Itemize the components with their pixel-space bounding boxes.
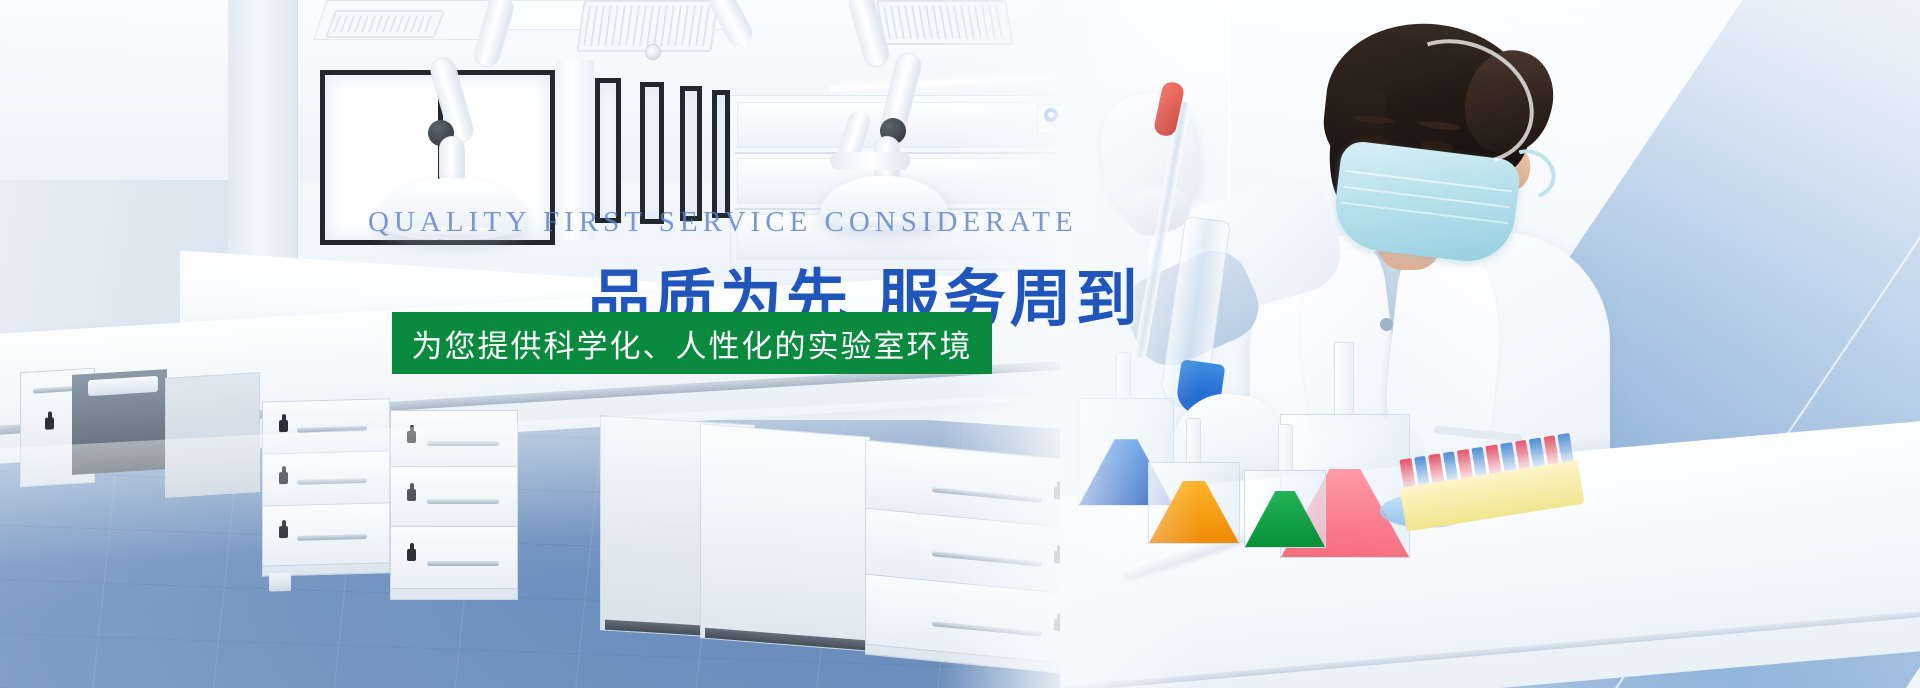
banner-text-overlay: QUALITY FIRST SERVICE CONSIDERATE 品质为先 服… [0, 0, 1920, 688]
laboratory-hero-banner: QUALITY FIRST SERVICE CONSIDERATE 品质为先 服… [0, 0, 1920, 688]
subtitle-banner: 为您提供科学化、人性化的实验室环境 [392, 312, 992, 374]
english-tagline: QUALITY FIRST SERVICE CONSIDERATE [368, 206, 1078, 239]
subtitle-text: 为您提供科学化、人性化的实验室环境 [412, 321, 973, 366]
